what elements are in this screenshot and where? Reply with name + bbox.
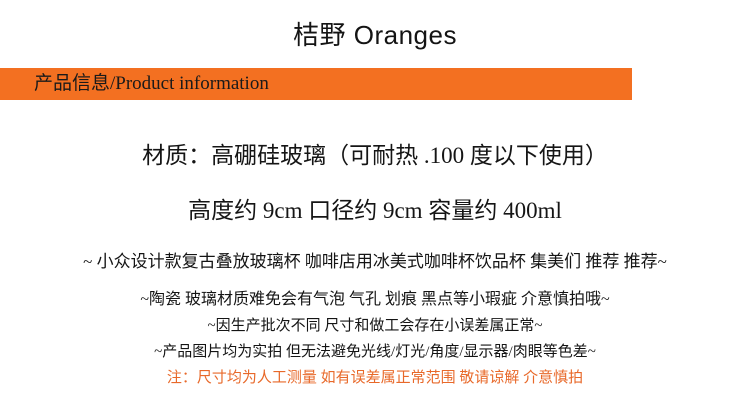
spec-dimensions: 高度约 9cm 口径约 9cm 容量约 400ml: [0, 195, 750, 227]
section-banner-label: 产品信息/Product information: [34, 73, 269, 95]
section-banner-product-information: 产品信息/Product information: [0, 68, 632, 100]
page-title: 桔野 Oranges: [0, 18, 750, 52]
note-defects: ~陶瓷 玻璃材质难免会有气泡 气孔 划痕 黑点等小瑕疵 介意慎拍哦~: [0, 289, 750, 311]
note-color-difference: ~产品图片均为实拍 但无法避免光线/灯光/角度/显示器/肉眼等色差~: [0, 342, 750, 363]
note-tagline: ~ 小众设计款复古叠放玻璃杯 咖啡店用冰美式咖啡杯饮品杯 集美们 推荐 推荐~: [0, 250, 750, 274]
note-batch-variance: ~因生产批次不同 尺寸和做工会存在小误差属正常~: [0, 316, 750, 337]
note-measurement-warning: 注：尺寸均为人工测量 如有误差属正常范围 敬请谅解 介意慎拍: [0, 368, 750, 389]
spec-material: 材质：高硼硅玻璃（可耐热 .100 度以下使用）: [0, 140, 750, 172]
product-info-page: 桔野 Oranges 产品信息/Product information 材质：高…: [0, 0, 750, 400]
